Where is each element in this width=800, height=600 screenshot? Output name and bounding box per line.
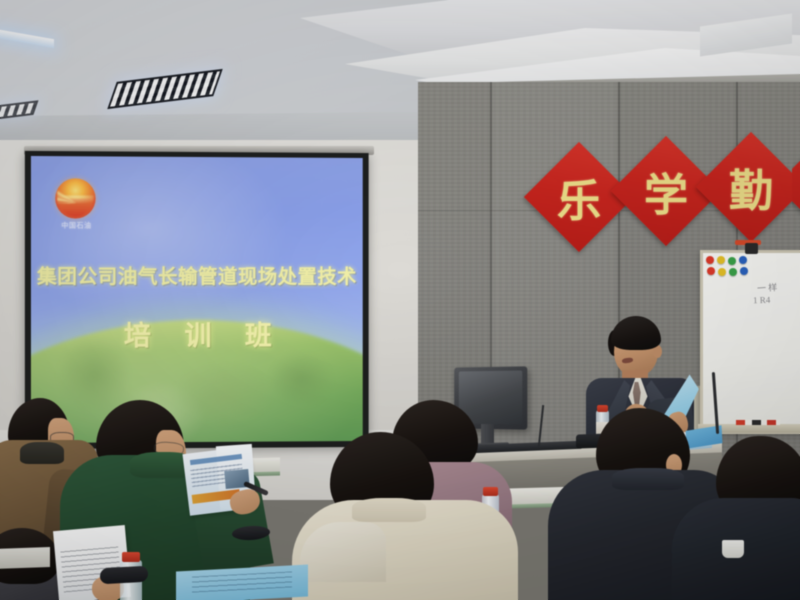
attendee-dark-suit-1-collar	[612, 468, 684, 490]
couplet-diamond-1: 乐	[540, 158, 618, 236]
audience-table-front-left	[0, 547, 50, 569]
couplet-diamond-4: 思	[792, 146, 800, 224]
attendee-brown-jacket-collar	[20, 442, 64, 464]
magnet-red-1[interactable]	[706, 256, 714, 264]
couplet-diamond-2: 学	[627, 152, 705, 230]
magnet-blue-2[interactable]	[740, 267, 748, 275]
attendee-cream-jacket-shoulder-fold	[300, 522, 386, 582]
attendee-cream-jacket-collar	[352, 498, 426, 522]
cnpc-sunburst-logo: 中国石油	[55, 178, 95, 230]
couplet-diamond-3: 勤	[712, 148, 790, 226]
whiteboard-note-line-2: 1 R4	[753, 295, 771, 306]
couplet-char-1: 乐	[540, 158, 618, 236]
magnet-green-1[interactable]	[728, 257, 736, 265]
magnet-red-2[interactable]	[707, 267, 715, 275]
whiteboard-magnet-row	[706, 256, 752, 278]
magnet-blue-1[interactable]	[739, 256, 747, 264]
slide-surface: 中国石油 集团公司油气长输管道现场处置技术 培 训 班	[31, 156, 363, 443]
couplet-char-3: 勤	[712, 148, 790, 226]
whiteboard-clip-black[interactable]	[745, 243, 758, 254]
magnet-yellow-2[interactable]	[718, 268, 726, 276]
water-bottle-centre-cap	[483, 487, 498, 496]
whiteboard-note-line-1: 一 样	[757, 280, 778, 294]
projection-screen: 中国石油 集团公司油气长输管道现场处置技术 培 训 班	[25, 151, 369, 449]
water-bottle-left-cap	[122, 552, 140, 562]
table-dark-object	[100, 566, 148, 585]
couplet-char-2: 学	[627, 152, 705, 230]
water-bottle-cap	[597, 405, 608, 412]
logo-caption: 中国石油	[54, 221, 98, 231]
training-room-photo: 中国石油 集团公司油气长输管道现场处置技术 培 训 班 乐 学 勤 思 一 样 …	[0, 0, 800, 600]
whiteboard-markers[interactable]	[736, 420, 780, 425]
logo-horizon-wave	[57, 195, 93, 203]
slide-title-primary: 集团公司油气长输管道现场处置技术	[31, 260, 363, 289]
couplet-char-4: 思	[792, 146, 800, 224]
magnet-green-2[interactable]	[729, 268, 737, 276]
magnet-yellow-1[interactable]	[717, 256, 725, 264]
cup-on-table-right	[722, 540, 744, 558]
slide-title-secondary: 培 训 班	[31, 314, 363, 353]
